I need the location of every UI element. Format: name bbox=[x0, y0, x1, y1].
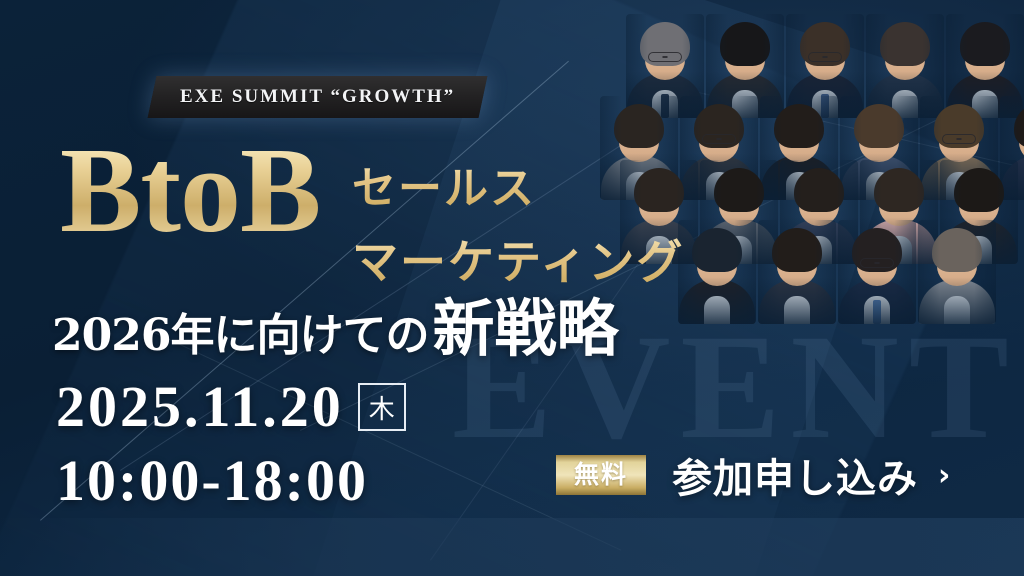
speaker-body bbox=[681, 156, 757, 200]
speaker-photo bbox=[940, 160, 1018, 264]
event-day-of-week-badge: 木 bbox=[358, 383, 406, 431]
speaker-photo bbox=[786, 14, 864, 118]
speaker-face bbox=[697, 240, 737, 286]
speaker-photo bbox=[706, 14, 784, 118]
speaker-hair bbox=[960, 22, 1010, 66]
speaker-hair bbox=[954, 168, 1004, 212]
speaker-body bbox=[839, 280, 915, 324]
speaker-hair bbox=[874, 168, 924, 212]
glasses-icon bbox=[702, 134, 736, 144]
speaker-side-fade bbox=[940, 160, 1018, 264]
speaker-hair bbox=[932, 228, 982, 272]
speaker-shirt bbox=[946, 172, 972, 200]
speaker-body bbox=[781, 220, 857, 264]
speaker-photo bbox=[860, 160, 938, 264]
speaker-bottom-fade bbox=[678, 220, 756, 324]
glasses-icon bbox=[860, 258, 894, 268]
speaker-face bbox=[959, 180, 999, 226]
speaker-tie bbox=[821, 94, 829, 118]
speaker-bottom-fade bbox=[1000, 96, 1024, 200]
speaker-body bbox=[921, 156, 997, 200]
speaker-face bbox=[857, 240, 897, 286]
speaker-bottom-fade bbox=[626, 14, 704, 118]
event-date: 2025.11.20 木 bbox=[56, 378, 406, 436]
speaker-hair bbox=[772, 228, 822, 272]
speaker-body bbox=[861, 220, 937, 264]
speaker-bottom-fade bbox=[780, 160, 858, 264]
speaker-face bbox=[799, 180, 839, 226]
speaker-shirt bbox=[784, 296, 810, 324]
speaker-face bbox=[879, 180, 919, 226]
speaker-face bbox=[725, 34, 765, 80]
subtitle-emphasis: 新戦略 bbox=[432, 278, 618, 368]
speaker-shirt bbox=[706, 172, 732, 200]
speaker-body bbox=[787, 74, 863, 118]
speaker-hair bbox=[694, 104, 744, 148]
speaker-row-1 bbox=[626, 14, 1024, 118]
event-date-value: 2025.11.20 bbox=[56, 378, 344, 436]
speaker-face bbox=[965, 34, 1005, 80]
speaker-hair bbox=[794, 168, 844, 212]
speaker-photo bbox=[758, 220, 836, 324]
speaker-bottom-fade bbox=[680, 96, 758, 200]
apply-cta-label: 参加申し込み bbox=[672, 446, 918, 504]
speaker-bottom-fade bbox=[946, 14, 1024, 118]
speaker-side-fade bbox=[920, 96, 998, 200]
speaker-bottom-fade bbox=[786, 14, 864, 118]
speaker-shirt bbox=[652, 90, 678, 118]
speaker-face bbox=[779, 116, 819, 162]
speaker-bottom-fade bbox=[860, 160, 938, 264]
speaker-face bbox=[699, 116, 739, 162]
speaker-side-fade bbox=[626, 14, 704, 118]
speaker-photo bbox=[626, 14, 704, 118]
speaker-side-fade bbox=[866, 14, 944, 118]
speaker-shirt bbox=[886, 236, 912, 264]
subtitle-lead: 2026年に向けての bbox=[52, 299, 428, 363]
speaker-hair bbox=[852, 228, 902, 272]
headline-latin: BtoB bbox=[60, 130, 320, 252]
speaker-photo bbox=[678, 220, 756, 324]
speaker-photo bbox=[780, 160, 858, 264]
speaker-bottom-fade bbox=[840, 96, 918, 200]
glasses-icon bbox=[648, 52, 682, 62]
background-bottom-band bbox=[0, 518, 1024, 576]
speaker-side-fade bbox=[758, 220, 836, 324]
speaker-hair bbox=[934, 104, 984, 148]
speaker-shirt bbox=[972, 90, 998, 118]
speaker-face bbox=[805, 34, 845, 80]
speaker-shirt bbox=[812, 90, 838, 118]
speaker-hair bbox=[880, 22, 930, 66]
speaker-side-fade bbox=[780, 160, 858, 264]
speaker-photo bbox=[680, 96, 758, 200]
speaker-hair bbox=[714, 168, 764, 212]
speaker-bottom-fade bbox=[920, 96, 998, 200]
speaker-side-fade bbox=[840, 96, 918, 200]
speaker-body bbox=[919, 280, 995, 324]
speaker-bottom-fade bbox=[940, 160, 1018, 264]
apply-cta-button[interactable]: 無料 参加申し込み › bbox=[556, 446, 950, 504]
speaker-side-fade bbox=[1000, 96, 1024, 200]
light-ray-4 bbox=[690, 90, 1024, 185]
speaker-row-4 bbox=[678, 220, 996, 324]
speaker-face bbox=[939, 116, 979, 162]
speaker-bottom-fade bbox=[758, 220, 836, 324]
glasses-icon bbox=[942, 134, 976, 144]
chevron-right-icon: › bbox=[938, 458, 950, 493]
speaker-side-fade bbox=[918, 220, 996, 324]
speaker-face bbox=[1019, 116, 1024, 162]
speaker-shirt bbox=[806, 236, 832, 264]
speaker-bottom-fade bbox=[700, 160, 778, 264]
event-time: 10:00-18:00 bbox=[56, 452, 368, 510]
speaker-photo bbox=[700, 160, 778, 264]
speaker-hair bbox=[800, 22, 850, 66]
summit-tag-label: EXE SUMMIT “GROWTH” bbox=[180, 86, 455, 108]
speaker-tie bbox=[661, 94, 669, 118]
price-badge-free: 無料 bbox=[556, 455, 646, 496]
speaker-body bbox=[701, 220, 777, 264]
speaker-bottom-fade bbox=[760, 96, 838, 200]
speaker-body bbox=[679, 280, 755, 324]
speaker-shirt bbox=[786, 172, 812, 200]
speaker-photo bbox=[1000, 96, 1024, 200]
speaker-bottom-fade bbox=[838, 220, 916, 324]
speaker-photo bbox=[920, 96, 998, 200]
speaker-face bbox=[859, 116, 899, 162]
speaker-shirt bbox=[892, 90, 918, 118]
speaker-body bbox=[759, 280, 835, 324]
speaker-shirt bbox=[704, 296, 730, 324]
speaker-shirt bbox=[726, 236, 752, 264]
speaker-body bbox=[1001, 156, 1024, 200]
speaker-shirt bbox=[864, 296, 890, 324]
event-banner: EVENT EXE SUMMIT “GROWTH” BtoB セールス マーケテ… bbox=[0, 0, 1024, 576]
speaker-hair bbox=[1014, 104, 1024, 148]
speaker-hair bbox=[614, 104, 664, 148]
speaker-photo bbox=[760, 96, 838, 200]
speaker-side-fade bbox=[786, 14, 864, 118]
speaker-photo bbox=[918, 220, 996, 324]
speaker-side-fade bbox=[706, 14, 784, 118]
speaker-hair bbox=[854, 104, 904, 148]
speaker-hair bbox=[774, 104, 824, 148]
speaker-body bbox=[707, 74, 783, 118]
speaker-shirt bbox=[944, 296, 970, 324]
speaker-body bbox=[841, 156, 917, 200]
speaker-side-fade bbox=[678, 220, 756, 324]
speaker-bottom-fade bbox=[918, 220, 996, 324]
speaker-face bbox=[645, 34, 685, 80]
speaker-face bbox=[937, 240, 977, 286]
speaker-photo bbox=[840, 96, 918, 200]
speaker-face bbox=[885, 34, 925, 80]
speaker-side-fade bbox=[946, 14, 1024, 118]
speaker-body bbox=[627, 74, 703, 118]
speaker-body bbox=[867, 74, 943, 118]
glasses-icon bbox=[808, 52, 842, 62]
speaker-hair bbox=[720, 22, 770, 66]
speaker-body bbox=[941, 220, 1017, 264]
headline-kana-sales: セールス bbox=[352, 152, 684, 216]
speaker-body bbox=[947, 74, 1023, 118]
speaker-side-fade bbox=[860, 160, 938, 264]
speaker-shirt bbox=[966, 236, 992, 264]
speaker-body bbox=[761, 156, 837, 200]
speaker-shirt bbox=[866, 172, 892, 200]
speaker-side-fade bbox=[680, 96, 758, 200]
speaker-side-fade bbox=[760, 96, 838, 200]
speaker-photo bbox=[838, 220, 916, 324]
speaker-shirt bbox=[732, 90, 758, 118]
speaker-photo bbox=[866, 14, 944, 118]
summit-tag: EXE SUMMIT “GROWTH” bbox=[148, 76, 488, 118]
speaker-hair bbox=[640, 22, 690, 66]
speaker-tie bbox=[873, 300, 881, 324]
speaker-hair bbox=[692, 228, 742, 272]
speaker-bottom-fade bbox=[866, 14, 944, 118]
speaker-face bbox=[777, 240, 817, 286]
speaker-side-fade bbox=[700, 160, 778, 264]
speaker-photo bbox=[946, 14, 1024, 118]
speaker-side-fade bbox=[838, 220, 916, 324]
headline-kana: セールス マーケティング bbox=[352, 152, 684, 292]
subtitle: 2026年に向けての 新戦略 bbox=[52, 278, 618, 368]
speaker-bottom-fade bbox=[706, 14, 784, 118]
speaker-face bbox=[719, 180, 759, 226]
